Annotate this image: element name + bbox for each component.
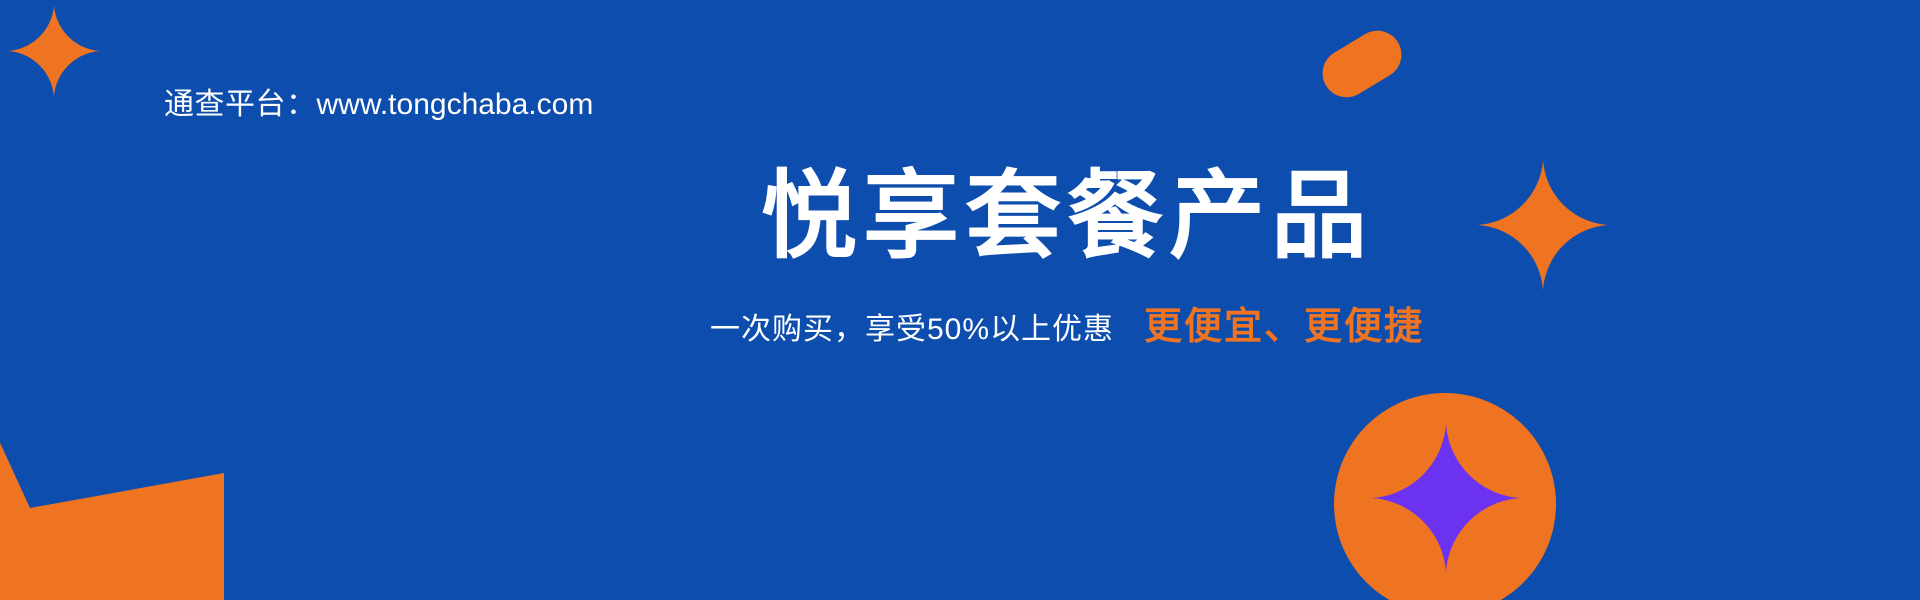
- platform-url-line: 通查平台：www.tongchaba.com: [164, 86, 593, 124]
- banner-headline: 悦享套餐产品: [0, 163, 1920, 271]
- banner-subline: 一次购买，享受50%以上优惠更便宜、更便捷: [0, 295, 1920, 350]
- platform-url[interactable]: www.tongchaba.com: [317, 88, 594, 121]
- subline-plain-text: 一次购买，享受50%以上优惠: [710, 313, 1114, 346]
- promo-banner: 通查平台：www.tongchaba.com 悦享套餐产品 一次购买，享受50%…: [0, 0, 1920, 600]
- banner-content: 通查平台：www.tongchaba.com 悦享套餐产品 一次购买，享受50%…: [0, 0, 1920, 600]
- platform-label: 通查平台：: [164, 88, 317, 121]
- subline-accent-text: 更便宜、更便捷: [1144, 306, 1424, 348]
